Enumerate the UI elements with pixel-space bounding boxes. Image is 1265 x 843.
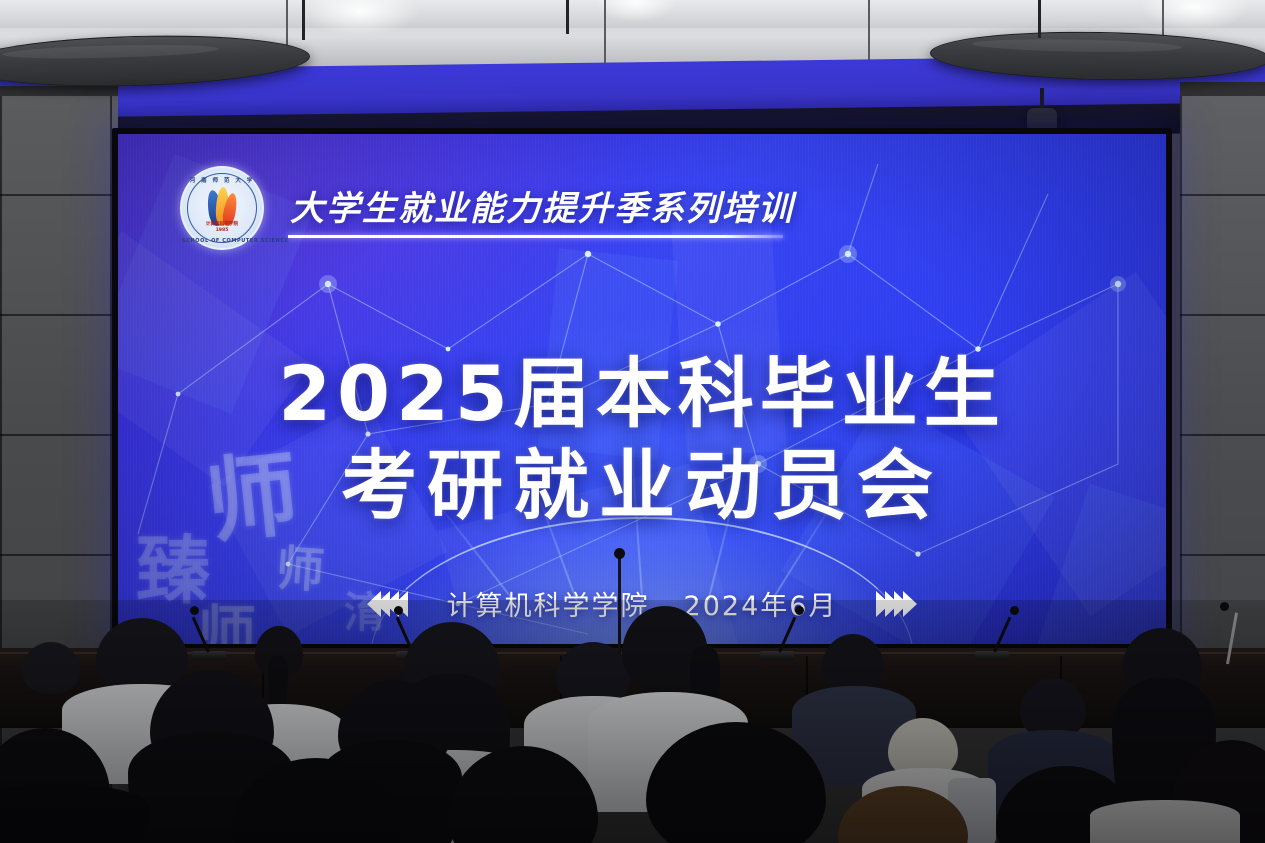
school-logo: 河 南 师 范 大 学 计算机科学学院 1985 SCHOOL OF COMPU… (180, 166, 264, 250)
audience-seating-area (0, 600, 1265, 843)
baffle-rod (1038, 0, 1041, 38)
slide-main-title-line2: 考研就业动员会 (118, 424, 1166, 534)
slide-header-underline (288, 235, 783, 238)
audience-shadow-overlay (0, 600, 1265, 843)
logo-university-name: 河 南 师 范 大 学 (182, 176, 262, 184)
logo-flame-icon (207, 186, 237, 226)
baffle-rod (302, 0, 305, 40)
lecture-hall-room: 师 臻 师 师 淯 河 南 师 范 大 学 计算机科学学院 1985 (0, 0, 1265, 843)
ceiling-light-glow (596, 0, 676, 22)
ceiling-light-glow (300, 0, 420, 36)
microphone-capsule (614, 548, 625, 559)
led-video-wall-bezel: 师 臻 师 师 淯 河 南 师 范 大 学 计算机科学学院 1985 (112, 128, 1172, 650)
ceiling-light-glow (1140, 0, 1250, 30)
baffle-rod (566, 0, 569, 34)
slide-header-title: 大学生就业能力提升季系列培训 (290, 181, 794, 230)
led-video-wall-screen: 师 臻 师 师 淯 河 南 师 范 大 学 计算机科学学院 1985 (118, 134, 1166, 644)
logo-english-name: SCHOOL OF COMPUTER SCIENCE (182, 238, 262, 244)
presentation-slide: 河 南 师 范 大 学 计算机科学学院 1985 SCHOOL OF COMPU… (118, 134, 1166, 644)
logo-founding-year: 1985 (216, 228, 229, 233)
logo-college-name: 计算机科学学院 (206, 221, 238, 227)
baffle-highlight (972, 38, 1182, 54)
baffle-highlight (2, 42, 218, 60)
